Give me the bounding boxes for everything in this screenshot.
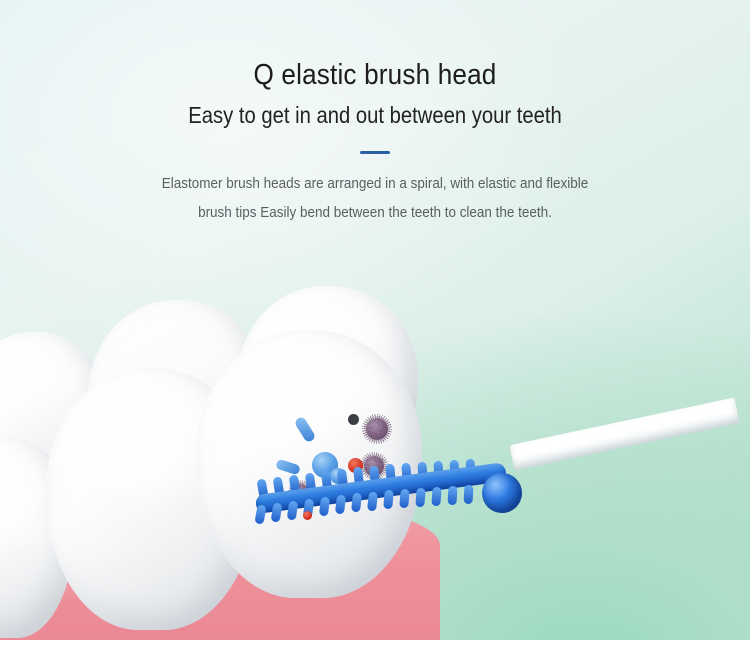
brush-bristle xyxy=(415,488,425,508)
plaque-bacteria-cocci-1 xyxy=(366,418,388,440)
body-line-2: brush tips Easily bend between the teeth… xyxy=(156,199,593,228)
brush-bristle xyxy=(351,493,362,513)
divider-rule xyxy=(360,151,390,154)
brush-bristle xyxy=(431,487,441,507)
brush-tip-ball xyxy=(482,473,522,513)
brush-bristle xyxy=(271,502,283,522)
brush-bristle xyxy=(319,497,330,517)
brush-bristle xyxy=(448,486,458,505)
product-feature-image: Q elastic brush head Easy to get in and … xyxy=(0,0,750,656)
page-subtitle: Easy to get in and out between your teet… xyxy=(45,92,705,129)
page-title: Q elastic brush head xyxy=(38,0,713,92)
body-line-1: Elastomer brush heads are arranged in a … xyxy=(156,170,593,199)
brush-bristle xyxy=(367,492,378,512)
brush-bristle xyxy=(287,500,299,520)
text-block: Q elastic brush head Easy to get in and … xyxy=(0,0,750,228)
brush-bristle xyxy=(383,490,394,510)
bottom-white-band xyxy=(0,640,750,656)
brush-bristle xyxy=(335,495,346,515)
brush-bristle xyxy=(399,489,410,509)
plaque-bacteria-red-small xyxy=(303,511,312,520)
tooth-highlight xyxy=(232,362,359,469)
brush-bristle xyxy=(254,504,266,524)
interdental-brush xyxy=(250,455,540,547)
plaque-bacteria-dot xyxy=(348,414,359,425)
tooth-highlight xyxy=(84,405,206,515)
brush-bristle xyxy=(464,485,474,504)
